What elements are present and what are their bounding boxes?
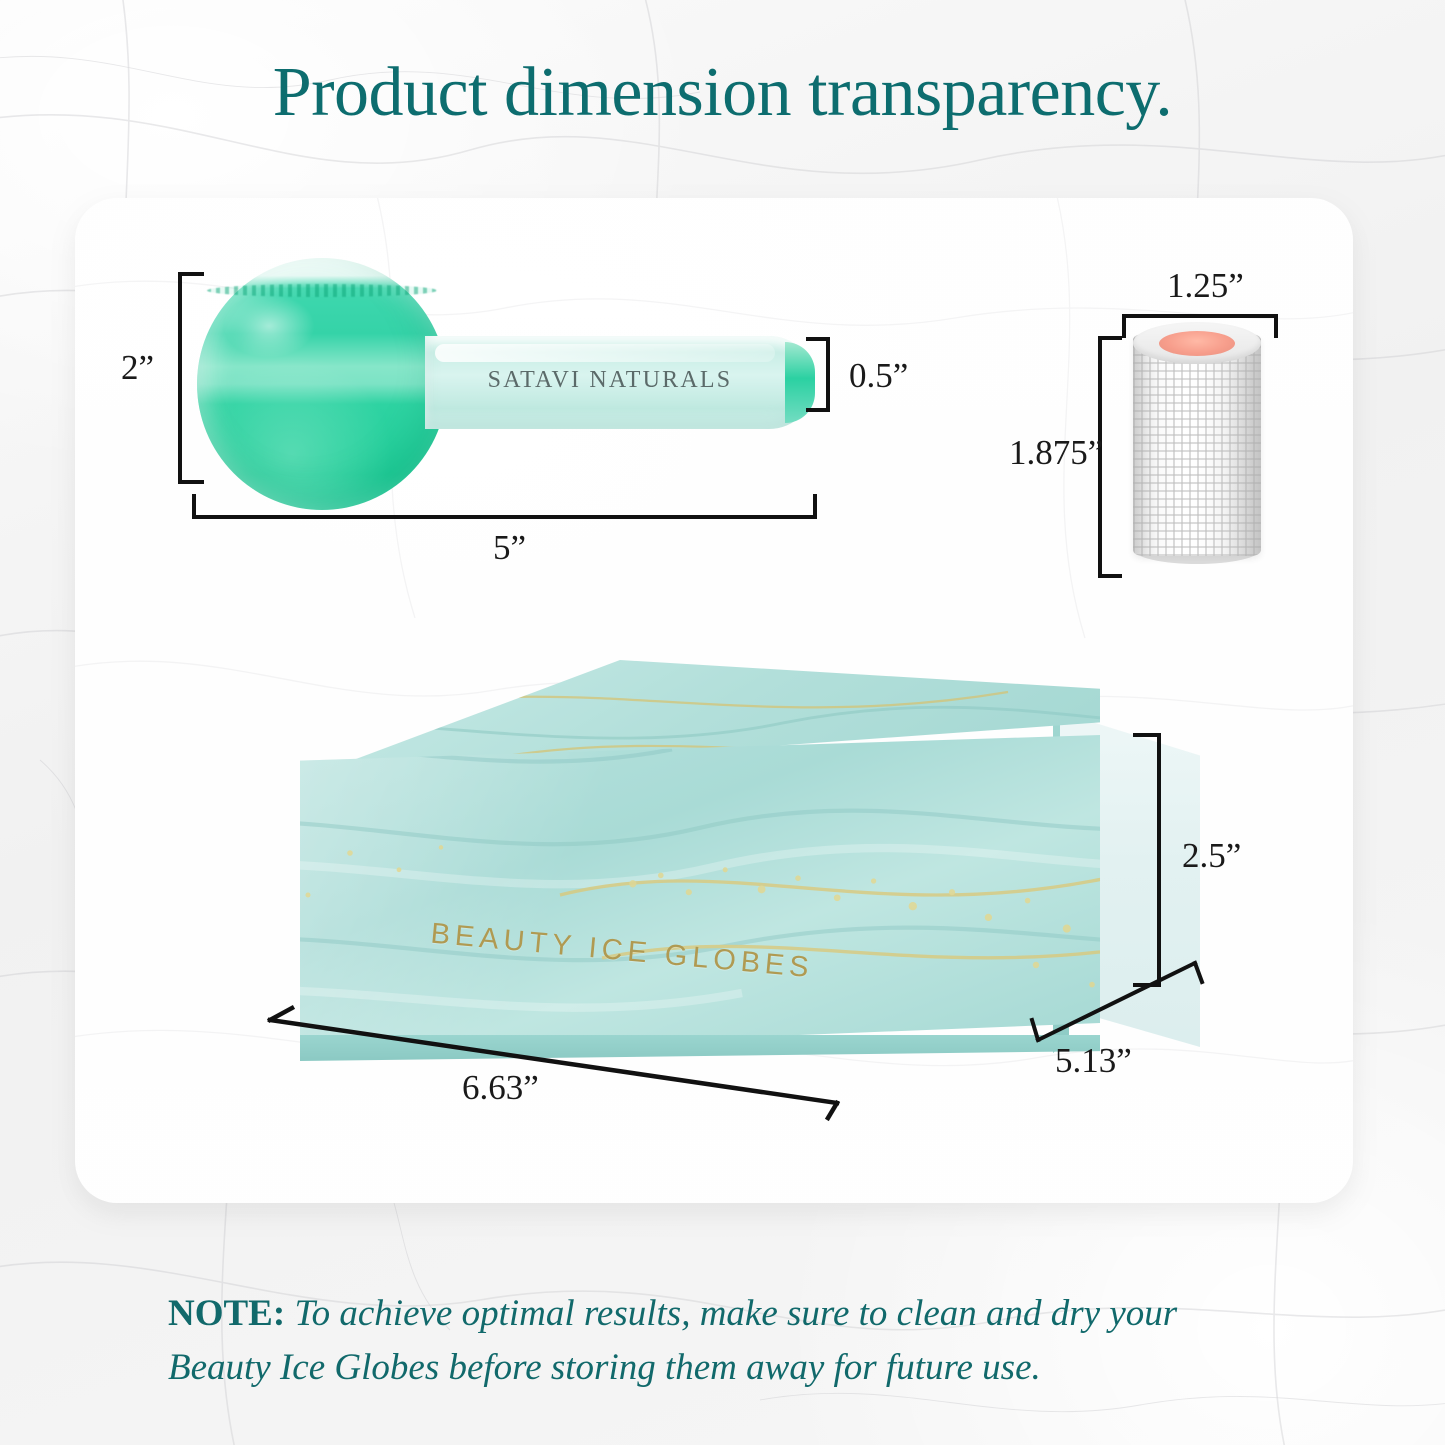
box-width-label: 6.63” xyxy=(462,1070,539,1105)
cover-width-label: 1.25” xyxy=(1167,268,1244,303)
globe-height-label: 2” xyxy=(121,350,154,385)
silicone-cover-illustration xyxy=(1095,262,1310,582)
note-text: NOTE: To achieve optimal results, make s… xyxy=(168,1287,1278,1394)
cover-top-rim xyxy=(1133,322,1261,364)
globe-height-bracket-line xyxy=(178,272,182,484)
cover-body xyxy=(1133,334,1261,556)
globe-length-label: 5” xyxy=(493,530,526,565)
handle-diameter-label: 0.5” xyxy=(849,358,908,393)
cover-height-label: 1.875” xyxy=(1009,435,1103,470)
cover-height-cap-bottom xyxy=(1098,574,1122,578)
box-height-cap-top xyxy=(1133,733,1161,737)
globe-highlight xyxy=(223,294,315,358)
cover-height-cap-top xyxy=(1098,336,1122,340)
box-depth-bracket xyxy=(1030,960,1260,1110)
handle-diameter-cap-top xyxy=(806,337,830,341)
globe-length-cap-left xyxy=(192,494,196,519)
globe-fizz-line xyxy=(207,284,437,297)
handle-gloss xyxy=(435,344,775,362)
ice-globe-handle: SATAVI NATURALS xyxy=(425,336,815,429)
note-body: To achieve optimal results, make sure to… xyxy=(168,1293,1177,1388)
ice-globe-sphere xyxy=(197,258,447,510)
box-height-bracket-line xyxy=(1157,733,1161,987)
box-depth-label: 5.13” xyxy=(1055,1043,1132,1078)
globe-height-bracket-cap-bottom xyxy=(178,480,204,484)
ice-globe-illustration: SATAVI NATURALS xyxy=(197,258,837,508)
globe-height-bracket-cap-top xyxy=(178,272,204,276)
note-prefix: NOTE: xyxy=(168,1293,285,1334)
box-height-label: 2.5” xyxy=(1182,838,1241,873)
cover-width-cap-right xyxy=(1274,314,1278,338)
page-title: Product dimension transparency. xyxy=(0,58,1445,128)
handle-diameter-bracket-line xyxy=(826,337,830,412)
cover-inner-pink xyxy=(1159,331,1235,356)
box-width-bracket xyxy=(262,1000,852,1120)
brand-text: SATAVI NATURALS xyxy=(425,367,795,394)
globe-length-bracket-line xyxy=(192,515,817,519)
handle-diameter-cap-bottom xyxy=(806,408,830,412)
cover-width-cap-left xyxy=(1122,314,1126,338)
cover-side-shading xyxy=(1133,334,1261,556)
globe-length-cap-right xyxy=(813,494,817,519)
cover-width-bracket-line xyxy=(1122,314,1278,318)
